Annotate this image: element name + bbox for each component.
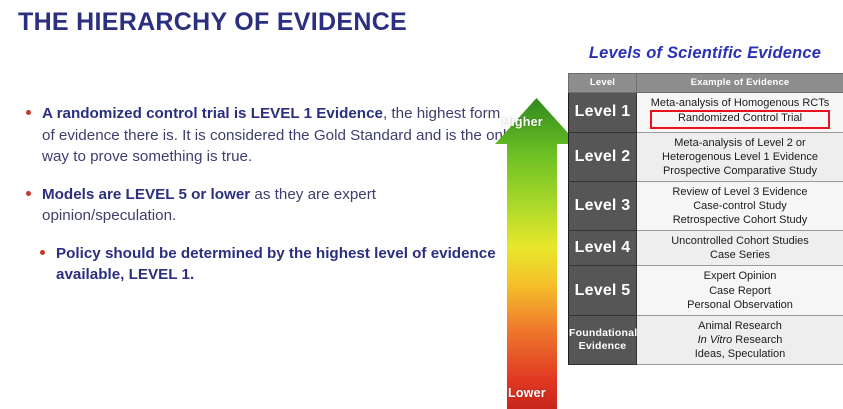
arrow-label-higher: Higher: [502, 115, 543, 129]
highlighted-evidence-box: Randomized Control Trial: [650, 110, 830, 129]
level-cell: Level 2: [569, 132, 637, 181]
panel-heading: Levels of Scientific Evidence: [574, 44, 836, 63]
example-cell: Meta-analysis of Homogenous RCTs Randomi…: [637, 93, 843, 133]
evidence-table: Level Example of Evidence Level 1 Meta-a…: [568, 73, 843, 365]
bullet-bold-text: A randomized control trial is LEVEL 1 Ev…: [42, 105, 383, 122]
table-row: Level 2 Meta-analysis of Level 2 or Hete…: [569, 132, 843, 181]
bullet-dot-icon: [26, 191, 31, 196]
level-cell: Level 5: [569, 266, 637, 315]
example-line: Uncontrolled Cohort Studies: [641, 234, 839, 248]
bullet-dot-icon: [40, 250, 45, 255]
example-cell: Review of Level 3 Evidence Case-control …: [637, 182, 843, 231]
example-line: Ideas, Speculation: [641, 347, 839, 361]
example-line: Meta-analysis of Level 2 or: [641, 136, 839, 150]
example-line: Retrospective Cohort Study: [641, 213, 839, 227]
list-item: Models are LEVEL 5 or lower as they are …: [14, 184, 514, 227]
example-line: Animal Research: [641, 319, 839, 333]
example-line: Heterogenous Level 1 Evidence: [641, 150, 839, 164]
example-cell: Animal Research In Vitro Research Ideas,…: [637, 315, 843, 364]
arrow-label-lower: Lower: [508, 386, 546, 400]
list-item: Policy should be determined by the highe…: [14, 243, 514, 286]
table-header-row: Level Example of Evidence: [569, 74, 843, 93]
example-cell: Expert Opinion Case Report Personal Obse…: [637, 266, 843, 315]
example-line: Prospective Comparative Study: [641, 164, 839, 178]
bullet-bold-text: Models are LEVEL 5 or lower: [42, 186, 250, 203]
hierarchy-arrow-icon: [495, 96, 578, 409]
level-cell: Level 3: [569, 182, 637, 231]
example-cell: Uncontrolled Cohort Studies Case Series: [637, 231, 843, 266]
example-line: Review of Level 3 Evidence: [641, 185, 839, 199]
list-item: A randomized control trial is LEVEL 1 Ev…: [14, 103, 514, 168]
level-cell: Foundational Evidence: [569, 315, 637, 364]
table-row: Level 1 Meta-analysis of Homogenous RCTs…: [569, 93, 843, 133]
table-row: Level 5 Expert Opinion Case Report Perso…: [569, 266, 843, 315]
example-line: Personal Observation: [641, 298, 839, 312]
evidence-panel: Levels of Scientific Evidence Higher Low…: [490, 0, 843, 409]
example-line: Case Series: [641, 248, 839, 262]
level-cell: Level 1: [569, 93, 637, 133]
level-cell: Level 4: [569, 231, 637, 266]
bullet-bold-text: Policy should be determined by the highe…: [56, 245, 496, 284]
example-line: Expert Opinion: [641, 269, 839, 283]
table-row: Level 4 Uncontrolled Cohort Studies Case…: [569, 231, 843, 266]
example-line: Meta-analysis of Homogenous RCTs: [641, 96, 839, 110]
table-row: Level 3 Review of Level 3 Evidence Case-…: [569, 182, 843, 231]
italic-suffix: Research: [732, 334, 782, 346]
bullet-dot-icon: [26, 110, 31, 115]
table-row: Foundational Evidence Animal Research In…: [569, 315, 843, 364]
page-title: THE HIERARCHY OF EVIDENCE: [18, 8, 407, 37]
column-header-level: Level: [569, 74, 637, 93]
bullet-list: A randomized control trial is LEVEL 1 Ev…: [14, 103, 514, 302]
column-header-example: Example of Evidence: [637, 74, 843, 93]
italic-term: In Vitro: [698, 334, 733, 346]
example-line: Case-control Study: [641, 199, 839, 213]
example-line: Case Report: [641, 284, 839, 298]
example-cell: Meta-analysis of Level 2 or Heterogenous…: [637, 132, 843, 181]
example-line-italic: In Vitro Research: [641, 333, 839, 347]
